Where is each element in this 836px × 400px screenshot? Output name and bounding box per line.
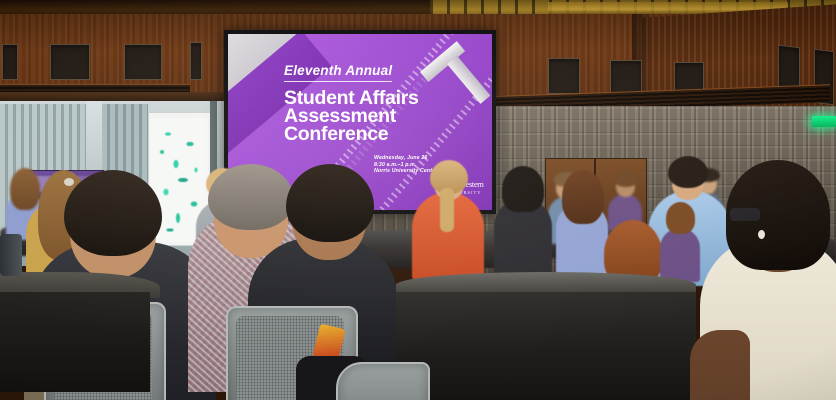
slide-text-block: Eleventh Annual Student Affairs Assessme… [284,62,444,143]
attendee-hair [208,164,294,230]
acoustic-panel [548,58,580,94]
slide-title: Student Affairs Assessment Conference [284,89,444,143]
slide-title-line-3: Conference [284,125,444,143]
acoustic-panel [50,44,90,80]
attendee-hair [286,164,374,242]
attendee-hair [64,170,162,256]
conference-photo: Eleventh Annual Student Affairs Assessme… [0,0,836,400]
window-header-beam [0,92,232,101]
attendee-arm [690,330,750,400]
audience-front-row [0,180,836,400]
round-table-skirt [396,292,696,400]
acoustic-panel [190,42,202,80]
exit-sign-icon [812,116,836,127]
round-table-skirt [0,292,150,392]
slide-eyebrow: Eleventh Annual [284,63,392,82]
acoustic-panel [2,44,18,80]
chair [336,362,430,400]
eyeglasses-icon [730,208,760,221]
water-bottle [0,234,22,276]
acoustic-panel [124,44,162,80]
hair-clip [64,178,74,186]
earring-icon [758,230,765,239]
